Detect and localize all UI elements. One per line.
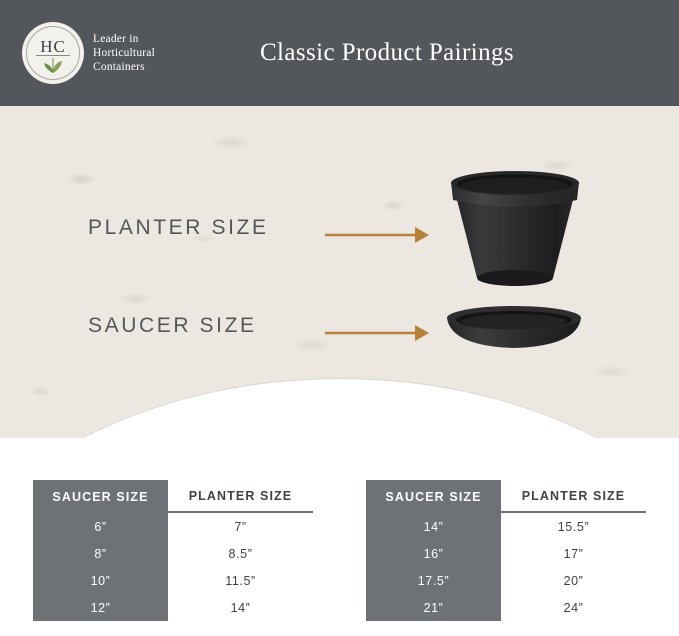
table-header-row: SAUCER SIZE PLANTER SIZE (33, 480, 313, 512)
cell-planter-size: 17” (501, 540, 646, 567)
table-row: 14” 15.5” (366, 512, 646, 540)
table-row: 10” 11.5” (33, 567, 313, 594)
size-tables-section: SAUCER SIZE PLANTER SIZE 6” 7” 8” 8.5” 1… (0, 438, 679, 636)
cell-planter-size: 24” (501, 594, 646, 621)
saucer-size-label: SAUCER SIZE (88, 314, 257, 338)
cell-saucer-size: 21” (366, 594, 501, 621)
cell-planter-size: 11.5” (168, 567, 313, 594)
cell-saucer-size: 14” (366, 512, 501, 540)
planter-pot-image (447, 170, 583, 296)
column-header-saucer-size: SAUCER SIZE (366, 480, 501, 512)
cell-saucer-size: 6” (33, 512, 168, 540)
cell-saucer-size: 8” (33, 540, 168, 567)
product-pairings-infographic: HC Leader in Horticultural Containers Cl… (0, 0, 679, 636)
arrow-to-saucer-icon (325, 322, 433, 344)
saucer-image (443, 302, 585, 354)
column-header-planter-size: PLANTER SIZE (501, 480, 646, 512)
table-row: 17.5” 20” (366, 567, 646, 594)
cell-planter-size: 20” (501, 567, 646, 594)
table-row: 6” 7” (33, 512, 313, 540)
table-header-row: SAUCER SIZE PLANTER SIZE (366, 480, 646, 512)
cell-saucer-size: 16” (366, 540, 501, 567)
cell-planter-size: 7” (168, 512, 313, 540)
cell-saucer-size: 17.5” (366, 567, 501, 594)
header-bar: HC Leader in Horticultural Containers Cl… (0, 0, 679, 106)
arrow-to-planter-icon (325, 224, 433, 246)
page-title: Classic Product Pairings (0, 39, 679, 67)
table-row: 12” 14” (33, 594, 313, 621)
size-table-left: SAUCER SIZE PLANTER SIZE 6” 7” 8” 8.5” 1… (33, 480, 313, 621)
cell-planter-size: 8.5” (168, 540, 313, 567)
table-row: 8” 8.5” (33, 540, 313, 567)
cell-saucer-size: 10” (33, 567, 168, 594)
hero-section: PLANTER SIZE SAUCER SIZE (0, 106, 679, 438)
planter-size-label: PLANTER SIZE (88, 216, 269, 240)
table-row: 16” 17” (366, 540, 646, 567)
size-table-right: SAUCER SIZE PLANTER SIZE 14” 15.5” 16” 1… (366, 480, 646, 621)
column-header-saucer-size: SAUCER SIZE (33, 480, 168, 512)
cell-planter-size: 14” (168, 594, 313, 621)
cell-saucer-size: 12” (33, 594, 168, 621)
column-header-planter-size: PLANTER SIZE (168, 480, 313, 512)
cell-planter-size: 15.5” (501, 512, 646, 540)
table-row: 21” 24” (366, 594, 646, 621)
